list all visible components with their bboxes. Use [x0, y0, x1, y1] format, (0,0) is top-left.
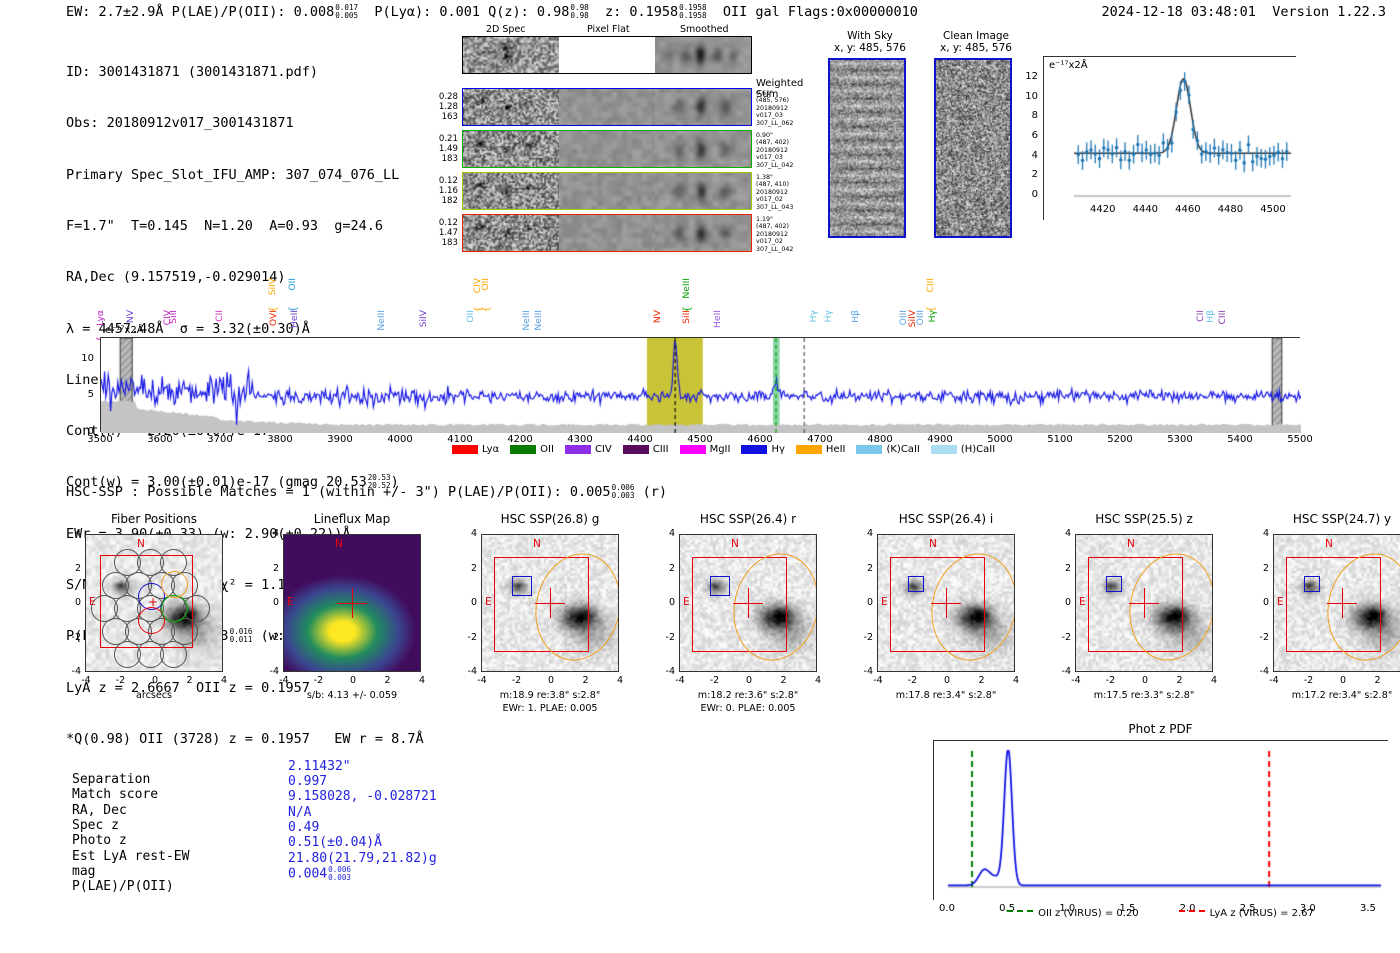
- emission-line-label: SiIV: [419, 310, 428, 327]
- north-label: N: [137, 538, 145, 550]
- cutout-xtick: 0: [938, 675, 956, 686]
- emission-line-label: Hβ: [851, 310, 860, 323]
- spectrum-units: e⁻¹⁷x2Å: [105, 325, 144, 336]
- spectrum-legend-item: Hγ: [741, 444, 784, 455]
- cutout-caption-line1: m:18.9 re:3.8" s:2.8": [451, 690, 649, 703]
- cutout-caption-line2: EWr: 0. PLAE: 0.005: [649, 703, 847, 716]
- cutout-caption-line1: arcsecs: [55, 690, 253, 703]
- mosaic-title-pixflat: Pixel Flat: [587, 24, 630, 35]
- cutout-ytick: 0: [853, 597, 873, 608]
- line-fit-ytick: 2: [1018, 169, 1038, 180]
- fiber-strip: [462, 214, 752, 252]
- cutout-title: HSC SSP(26.4) i: [847, 512, 1045, 526]
- emission-line-label: NeIII: [682, 278, 691, 299]
- spectrum-legend-item: MgII: [680, 444, 731, 455]
- match-table-value: 0.51(±0.04)Å: [288, 835, 382, 850]
- match-table-key: RA, Dec: [72, 803, 127, 818]
- emission-line-label: Hγ: [809, 310, 818, 322]
- cutout-xtick: -2: [706, 675, 724, 686]
- match-table-key: Spec z: [72, 818, 119, 833]
- cutout-xtick: 2: [379, 675, 397, 686]
- fiber-strip-meta: 1.19" (487, 402) 20180912 v017_02 307_LL…: [756, 216, 793, 253]
- header-summary-line: EW: 2.7±2.9Å P(LAE)/P(OII): 0.0080.0170.…: [66, 4, 918, 20]
- with-sky-cutout: [828, 58, 906, 238]
- north-label: N: [1325, 538, 1333, 550]
- line-fit-ytick: 12: [1018, 71, 1038, 82]
- cutout-ytick: -2: [61, 632, 81, 643]
- cutout-ytick: -4: [61, 666, 81, 677]
- cutout-image[interactable]: [283, 534, 421, 672]
- east-label: E: [89, 596, 96, 608]
- cutout-xtick: 4: [1205, 675, 1223, 686]
- east-label: E: [1277, 596, 1284, 608]
- counterpart-box: [908, 576, 924, 592]
- spectrum-ytick: 0: [68, 426, 94, 437]
- weighted-sum-strip: [462, 36, 752, 74]
- cutout-image[interactable]: [481, 534, 619, 672]
- center-crosshair-v: [1342, 588, 1343, 618]
- cutout-ytick: 0: [259, 597, 279, 608]
- cutout-xtick: 0: [740, 675, 758, 686]
- z-fraction: 0.19580.1958: [679, 4, 706, 20]
- cutout-ytick: 2: [1249, 563, 1269, 574]
- line-fit-ytick: 0: [1018, 189, 1038, 200]
- counterpart-box: [512, 576, 532, 596]
- legend-label: CIV: [595, 444, 612, 455]
- cutout-ytick: 4: [853, 528, 873, 539]
- match-table-value: 0.49: [288, 820, 319, 835]
- cutout-ytick: -2: [1051, 632, 1071, 643]
- line-fit-xtick: 4420: [1089, 204, 1117, 215]
- east-label: E: [485, 596, 492, 608]
- header-summary-mid: P(Lyα): 0.001 Q(z): 0.98: [374, 4, 569, 20]
- cutout-ytick: 2: [259, 563, 279, 574]
- counterpart-box: [1106, 576, 1122, 592]
- spectrum-legend-item: (H)CaII: [931, 444, 995, 455]
- match-table-key: P(LAE)/P(OII): [72, 879, 174, 894]
- cutout-xtick: -2: [1102, 675, 1120, 686]
- match-table-value: 21.80(21.79,21.82)g: [288, 851, 437, 866]
- emission-line-label: NeIII: [534, 310, 543, 331]
- spectrum-xtick: 3900: [320, 434, 360, 445]
- cutout-xtick: 2: [973, 675, 991, 686]
- cutout-ytick: -4: [853, 666, 873, 677]
- line-fit-xtick: 4480: [1216, 204, 1244, 215]
- emission-line-label: OIII: [916, 310, 925, 325]
- photz-plot: [933, 740, 1388, 900]
- cutout-ytick: -2: [457, 632, 477, 643]
- cutout-ytick: 2: [61, 563, 81, 574]
- center-crosshair-v: [1144, 588, 1145, 618]
- match-table-value: 2.11432": [288, 759, 351, 774]
- east-label: E: [881, 596, 888, 608]
- match-table-key: Separation: [72, 772, 150, 787]
- cutout-caption-line1: m:17.2 re:3.4" s:2.8": [1243, 690, 1400, 703]
- emission-line-label: CII: [1196, 310, 1205, 322]
- cutout-title: HSC SSP(24.7) y: [1243, 512, 1400, 526]
- east-label: E: [287, 596, 294, 608]
- info-line-obs: Obs: 20180912v017_3001431871: [66, 115, 424, 132]
- spectrum-legend-item: CIV: [565, 444, 612, 455]
- legend-swatch: [565, 445, 591, 454]
- emission-line-label: SiII: [682, 310, 691, 324]
- spec2d-mosaic: 2D Spec Pixel Flat Smoothed Weighted Sum…: [462, 36, 752, 74]
- cutout-xtick: -2: [112, 675, 130, 686]
- line-fit-ytick: 8: [1018, 110, 1038, 121]
- match-table-value: N/A: [288, 805, 311, 820]
- east-label: E: [1079, 596, 1086, 608]
- legend-swatch: [741, 445, 767, 454]
- cutout-xtick: 2: [1369, 675, 1387, 686]
- cutout-ytick: -2: [1249, 632, 1269, 643]
- spectrum-ytick: 10: [68, 353, 94, 364]
- header-summary-z: z: 0.1958: [605, 4, 678, 20]
- fiber-strip-meta: 0.61" (485, 576) 20180912 v017_03 307_LL…: [756, 90, 793, 127]
- spectrum-legend: LyαOIICIVCIIIMgIIHγHeII(K)CaII(H)CaII: [452, 444, 995, 455]
- header-summary-post: OII gal Flags:0x00000010: [723, 4, 918, 20]
- center-crosshair-v: [748, 588, 749, 618]
- spectrum-xtick: 3700: [200, 434, 240, 445]
- north-label: N: [533, 538, 541, 550]
- info-line-radec: RA,Dec (9.157519,-0.029014): [66, 269, 424, 286]
- cutout-ytick: 0: [61, 597, 81, 608]
- emission-line-label: NV: [126, 310, 135, 323]
- spectrum-xtick: 5100: [1040, 434, 1080, 445]
- cutout-xtick: 2: [1171, 675, 1189, 686]
- cutout-xtick: 4: [611, 675, 629, 686]
- emission-line-label: SiII: [169, 310, 178, 324]
- cutout-ytick: 4: [259, 528, 279, 539]
- fiber-strip: [462, 130, 752, 168]
- emission-line-label: OII: [288, 278, 297, 291]
- cutout-xtick: 0: [1334, 675, 1352, 686]
- cutout-xtick: 0: [542, 675, 560, 686]
- emission-line-label: HeII: [290, 310, 299, 328]
- legend-swatch: [856, 445, 882, 454]
- clean-image-label: Clean Imagex, y: 485, 576: [928, 30, 1024, 54]
- cutout-panel[interactable]: HSC SSP(25.5) zNE-4-2024420-2-4m:17.5 re…: [1045, 512, 1243, 742]
- legend-label: Hγ: [771, 444, 784, 455]
- cutout-xtick: 4: [413, 675, 431, 686]
- legend-swatch: [931, 445, 957, 454]
- cutout-image[interactable]: [679, 534, 817, 672]
- info-line-slot: Primary Spec_Slot_IFU_AMP: 307_074_076_L…: [66, 167, 424, 184]
- cutout-ytick: 0: [1249, 597, 1269, 608]
- emission-line-bracket: {: [481, 306, 492, 312]
- legend-label: (H)CaII: [961, 444, 995, 455]
- cutout-caption: s/b: 4.13 +/- 0.059: [253, 690, 451, 703]
- north-label: N: [1127, 538, 1135, 550]
- legend-label: (K)CaII: [886, 444, 919, 455]
- info-line-params: F=1.7" T=0.145 N=1.20 A=0.93 g=24.6: [66, 218, 424, 235]
- fiber-circle: [160, 641, 187, 668]
- cutout-xtick: 4: [215, 675, 233, 686]
- match-table-key: Photo z: [72, 833, 127, 848]
- cutout-caption: m:17.8 re:3.4" s:2.8": [847, 690, 1045, 703]
- highlight-fiber: [161, 571, 188, 598]
- match-table-key: mag: [72, 864, 95, 879]
- spectrum-legend-item: HeII: [796, 444, 846, 455]
- cutout-xtick: -2: [508, 675, 526, 686]
- cutout-title: Lineflux Map: [253, 512, 451, 526]
- emission-line-label: SiIV: [268, 278, 277, 295]
- legend-swatch: [680, 445, 706, 454]
- spectrum-xtick: 5300: [1160, 434, 1200, 445]
- cutout-xtick: 0: [1136, 675, 1154, 686]
- photz-legend-dash: [1007, 910, 1033, 912]
- center-crosshair-v: [946, 588, 947, 618]
- cutout-ytick: -2: [853, 632, 873, 643]
- photz-legend-label: LyA z (VIRUS) = 2.67: [1210, 908, 1314, 919]
- spectrum-xtick: 5400: [1220, 434, 1260, 445]
- hsc-plae-fraction: 0.0060.003: [612, 484, 635, 500]
- line-fit-ytick: 10: [1018, 91, 1038, 102]
- fiber-strip-stats: 0.12 1.16 182: [420, 176, 458, 207]
- cutout-caption: m:18.9 re:3.8" s:2.8"EWr: 1. PLAE: 0.005: [451, 690, 649, 715]
- full-spectrum-plot: e⁻¹⁷x2Å: [100, 337, 1300, 432]
- spectrum-legend-item: (K)CaII: [856, 444, 919, 455]
- cutout-image[interactable]: [1075, 534, 1213, 672]
- match-table-value: 0.997: [288, 774, 327, 789]
- mosaic-title-smoothed: Smoothed: [680, 24, 729, 35]
- photz-legend-dash: [1179, 910, 1205, 912]
- legend-label: OII: [540, 444, 554, 455]
- match-plae-fraction: 0.0060.003: [328, 866, 351, 882]
- photz-legend-label: OII z (VIRUS) = 0.20: [1038, 908, 1139, 919]
- north-label: N: [731, 538, 739, 550]
- fiber-strip-stats: 0.12 1.47 183: [420, 218, 458, 249]
- emission-line-label: Hβ: [1206, 310, 1215, 323]
- spectrum-xtick: 5200: [1100, 434, 1140, 445]
- photz-title: Phot z PDF: [933, 722, 1388, 736]
- spectrum-ytick: 5: [68, 389, 94, 400]
- cutout-xtick: 2: [577, 675, 595, 686]
- cutout-xtick: 0: [344, 675, 362, 686]
- center-marker: +: [148, 597, 158, 607]
- center-crosshair-v: [550, 588, 551, 618]
- line-fit-xtick: 4460: [1174, 204, 1202, 215]
- cutout-caption-line1: m:17.5 re:3.3" s:2.8": [1045, 690, 1243, 703]
- legend-label: HeII: [826, 444, 846, 455]
- cutout-xtick: 4: [809, 675, 827, 686]
- cutout-title: Fiber Positions: [55, 512, 253, 526]
- cutout-title: HSC SSP(26.4) r: [649, 512, 847, 526]
- cutout-caption: m:17.2 re:3.4" s:2.8": [1243, 690, 1400, 703]
- photz-legend: OII z (VIRUS) = 0.20LyA z (VIRUS) = 2.67: [933, 908, 1388, 919]
- cutout-ytick: 4: [1249, 528, 1269, 539]
- cutout-panel[interactable]: Lineflux MapNE-4-2024420-2-4s/b: 4.13 +/…: [253, 512, 451, 742]
- header-timestamp-version: 2024-12-18 03:48:01 Version 1.22.3: [1102, 4, 1387, 20]
- photz-legend-item: OII z (VIRUS) = 0.20: [1007, 908, 1139, 919]
- cutout-xtick: 4: [1007, 675, 1025, 686]
- match-table-key: Est LyA rest-EW: [72, 849, 189, 864]
- cutout-title: HSC SSP(25.5) z: [1045, 512, 1243, 526]
- cutout-caption: m:18.2 re:3.6" s:2.8"EWr: 0. PLAE: 0.005: [649, 690, 847, 715]
- emission-line-label: OII: [481, 278, 490, 291]
- plae-fraction-1: 0.0170.005: [335, 4, 358, 20]
- cutout-ytick: 2: [655, 563, 675, 574]
- cutout-caption: arcsecs: [55, 690, 253, 703]
- cutout-xtick: -2: [1300, 675, 1318, 686]
- info-line-id: ID: 3001431871 (3001431871.pdf): [66, 64, 424, 81]
- cutout-xtick: -2: [904, 675, 922, 686]
- legend-label: MgII: [710, 444, 731, 455]
- cutout-xtick: 2: [181, 675, 199, 686]
- fiber-strip: [462, 88, 752, 126]
- cutout-caption: m:17.5 re:3.3" s:2.8": [1045, 690, 1243, 703]
- cutout-ytick: 2: [853, 563, 873, 574]
- line-fit-xtick: 4500: [1259, 204, 1287, 215]
- cutout-ytick: 4: [655, 528, 675, 539]
- emission-line-label: CII: [215, 310, 224, 322]
- cutout-ytick: 0: [1051, 597, 1071, 608]
- fiber-strip: [462, 172, 752, 210]
- cutout-ytick: 2: [1051, 563, 1071, 574]
- emission-line-label: NeIII: [377, 310, 386, 331]
- cutout-xtick: -2: [310, 675, 328, 686]
- emission-line-label: CIII: [1218, 310, 1227, 325]
- cutout-ytick: -4: [1051, 666, 1071, 677]
- legend-swatch: [623, 445, 649, 454]
- spectrum-xtick: 5500: [1280, 434, 1320, 445]
- timestamp: 2024-12-18 03:48:01: [1102, 4, 1256, 20]
- counterpart-box: [1304, 576, 1320, 592]
- north-label: N: [335, 538, 343, 550]
- highlight-fiber: [161, 595, 188, 622]
- match-table-value: 9.158028, -0.028721: [288, 789, 437, 804]
- cutout-ytick: 4: [457, 528, 477, 539]
- cutout-ytick: -4: [259, 666, 279, 677]
- cutout-xtick: 2: [775, 675, 793, 686]
- cutout-ytick: 4: [61, 528, 81, 539]
- emission-line-label: NV: [653, 310, 662, 323]
- match-table-value: 0.0040.0060.003: [288, 866, 351, 882]
- cutout-ytick: -2: [259, 632, 279, 643]
- line-fit-ytick: 4: [1018, 150, 1038, 161]
- with-sky-label: With Skyx, y: 485, 576: [822, 30, 918, 54]
- cutout-ytick: 2: [457, 563, 477, 574]
- spectrum-xtick: 3600: [140, 434, 180, 445]
- emission-line-label: Hγ: [928, 310, 937, 322]
- spectrum-legend-item: CIII: [623, 444, 669, 455]
- line-fit-plot: e⁻¹⁷x2Å: [1043, 56, 1296, 220]
- fiber-strip-meta: 1.38" (487, 410) 20180912 v017_02 307_LL…: [756, 174, 793, 211]
- version-label: Version 1.22.3: [1272, 4, 1386, 20]
- spectrum-legend-item: OII: [510, 444, 554, 455]
- qz-fraction: 0.980.98: [570, 4, 588, 20]
- cutout-caption-line1: m:17.8 re:3.4" s:2.8": [847, 690, 1045, 703]
- emission-line-label: OVI: [269, 310, 278, 326]
- line-fit-xtick: 4440: [1131, 204, 1159, 215]
- cutout-panel[interactable]: Fiber Positions+NE-4-2024420-2-4arcsecs: [55, 512, 253, 742]
- header-summary-pre: EW: 2.7±2.9Å P(LAE)/P(OII): 0.008: [66, 4, 334, 20]
- cutout-panel[interactable]: HSC SSP(26.4) iNE-4-2024420-2-4m:17.8 re…: [847, 512, 1045, 742]
- center-crosshair-v: [352, 588, 353, 618]
- cutout-ytick: -4: [655, 666, 675, 677]
- emission-line-bracket: {: [268, 306, 279, 312]
- photz-legend-item: LyA z (VIRUS) = 2.67: [1179, 908, 1314, 919]
- emission-line-label: CIII: [926, 278, 935, 293]
- cutout-caption-line1: m:18.2 re:3.6" s:2.8": [649, 690, 847, 703]
- emission-line-label: NeIII: [522, 310, 531, 331]
- emission-line-label: Lyα: [96, 310, 105, 326]
- fiber-strip-stats: 0.21 1.49 183: [420, 134, 458, 165]
- legend-label: CIII: [653, 444, 669, 455]
- line-fit-ytick: 6: [1018, 130, 1038, 141]
- cutout-ytick: -4: [457, 666, 477, 677]
- cutout-panel[interactable]: HSC SSP(26.4) rNE-4-2024420-2-4m:18.2 re…: [649, 512, 847, 742]
- legend-swatch: [796, 445, 822, 454]
- cutout-ytick: -4: [1249, 666, 1269, 677]
- cutout-panel[interactable]: HSC SSP(24.7) yNE-4-2024420-2-4m:17.2 re…: [1243, 512, 1400, 742]
- line-fit-units: e⁻¹⁷x2Å: [1049, 60, 1088, 71]
- spectrum-xtick: 3800: [260, 434, 300, 445]
- legend-swatch: [452, 445, 478, 454]
- clean-image-cutout: [934, 58, 1012, 238]
- cutout-image[interactable]: +: [85, 534, 223, 672]
- fiber-strip-meta: 0.90" (487, 402) 20180912 v017_03 307_LL…: [756, 132, 793, 169]
- cutout-ytick: 0: [655, 597, 675, 608]
- legend-label: Lyα: [482, 444, 499, 455]
- east-label: E: [683, 596, 690, 608]
- counterpart-box: [710, 576, 730, 596]
- fiber-strip-stats: 0.28 1.28 163: [420, 92, 458, 123]
- spectrum-xtick: 4000: [380, 434, 420, 445]
- hsc-ssp-heading: HSC-SSP : Possible Matches = 1 (within +…: [66, 484, 667, 500]
- emission-line-label: HeII: [713, 310, 722, 328]
- cutout-image[interactable]: [1273, 534, 1400, 672]
- cutout-panel[interactable]: HSC SSP(26.8) gNE-4-2024420-2-4m:18.9 re…: [451, 512, 649, 742]
- spectrum-legend-item: Lyα: [452, 444, 499, 455]
- cutout-title: HSC SSP(26.8) g: [451, 512, 649, 526]
- north-label: N: [929, 538, 937, 550]
- legend-swatch: [510, 445, 536, 454]
- cutout-xtick: 0: [146, 675, 164, 686]
- emission-line-label: Hγ: [824, 310, 833, 322]
- cutout-image[interactable]: [877, 534, 1015, 672]
- cutout-ytick: 0: [457, 597, 477, 608]
- match-table-key: Match score: [72, 787, 158, 802]
- cutout-caption-line2: EWr: 1. PLAE: 0.005: [451, 703, 649, 716]
- mosaic-title-2dspec: 2D Spec: [486, 24, 526, 35]
- cutout-ytick: -2: [655, 632, 675, 643]
- cutout-ytick: 4: [1051, 528, 1071, 539]
- cutout-caption-line1: s/b: 4.13 +/- 0.059: [253, 690, 451, 703]
